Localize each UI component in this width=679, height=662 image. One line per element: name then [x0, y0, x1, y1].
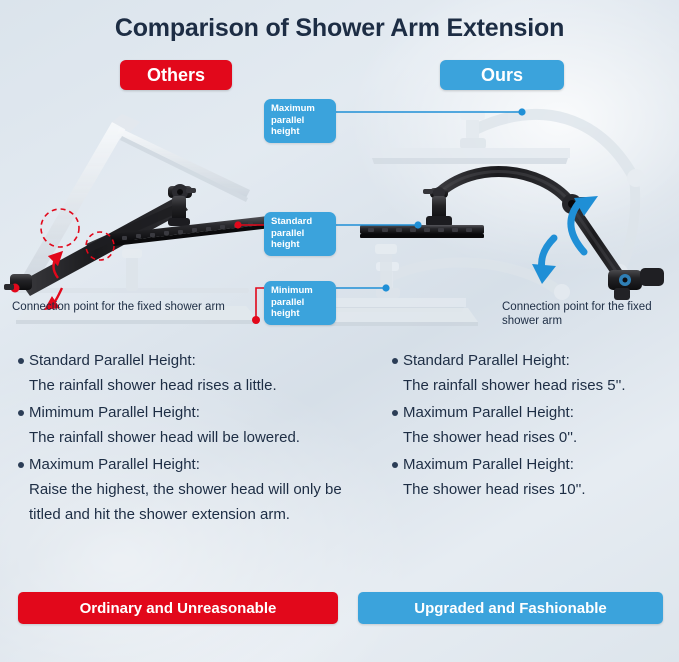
- others-illustration: [4, 114, 271, 324]
- bullet-column-others: Standard Parallel Height: The rainfall s…: [0, 348, 374, 578]
- bullet-heading-row: Standard Parallel Height:: [18, 348, 374, 373]
- bullet-dot-icon: [18, 410, 24, 416]
- bullet-heading: Maximum Parallel Height:: [403, 400, 574, 425]
- bullet-item: Mimimum Parallel Height: The rainfall sh…: [18, 400, 374, 450]
- bullet-dot-icon: [392, 358, 398, 364]
- bullet-column-ours: Standard Parallel Height: The rainfall s…: [374, 348, 679, 578]
- bullet-item: Standard Parallel Height: The rainfall s…: [392, 348, 679, 398]
- banner-ordinary-unreasonable: Ordinary and Unreasonable: [18, 592, 338, 624]
- bullet-heading-row: Maximum Parallel Height:: [392, 452, 679, 477]
- bullet-item: Maximum Parallel Height: The shower head…: [392, 400, 679, 450]
- callout-maximum-parallel-height: Maximum parallel height: [264, 99, 336, 143]
- bullet-heading: Maximum Parallel Height:: [403, 452, 574, 477]
- bullet-heading: Standard Parallel Height:: [29, 348, 196, 373]
- badge-ours: Ours: [440, 60, 564, 90]
- callout-standard-parallel-height: Standard parallel height: [264, 212, 336, 256]
- badge-others: Others: [120, 60, 232, 90]
- bullet-heading: Maximum Parallel Height:: [29, 452, 200, 477]
- bullet-dot-icon: [18, 358, 24, 364]
- callout-minimum-parallel-height: Minimum parallel height: [264, 281, 336, 325]
- bullet-dot-icon: [392, 462, 398, 468]
- bullet-body: The rainfall shower head rises a little.: [18, 373, 374, 398]
- ours-illustration: [290, 110, 664, 326]
- bullet-body: The rainfall shower head will be lowered…: [18, 425, 374, 450]
- bullet-body: The shower head rises 10''.: [392, 477, 679, 502]
- infographic-page: Comparison of Shower Arm Extension Other…: [0, 0, 679, 662]
- bullet-heading: Mimimum Parallel Height:: [29, 400, 200, 425]
- bullet-heading: Standard Parallel Height:: [403, 348, 570, 373]
- bullet-body: The shower head rises 0''.: [392, 425, 679, 450]
- bullet-heading-row: Standard Parallel Height:: [392, 348, 679, 373]
- connection-caption-left: Connection point for the fixed shower ar…: [12, 300, 225, 314]
- bullet-item: Standard Parallel Height: The rainfall s…: [18, 348, 374, 398]
- bullet-item: Maximum Parallel Height: The shower head…: [392, 452, 679, 502]
- banner-upgraded-fashionable: Upgraded and Fashionable: [358, 592, 663, 624]
- bullet-dot-icon: [18, 462, 24, 468]
- bullet-heading-row: Maximum Parallel Height:: [18, 452, 374, 477]
- page-title: Comparison of Shower Arm Extension: [0, 14, 679, 43]
- bullet-item: Maximum Parallel Height: Raise the highe…: [18, 452, 374, 527]
- bullet-body: Raise the highest, the shower head will …: [18, 477, 374, 527]
- bullet-heading-row: Mimimum Parallel Height:: [18, 400, 374, 425]
- bullet-columns: Standard Parallel Height: The rainfall s…: [0, 348, 679, 578]
- bullet-heading-row: Maximum Parallel Height:: [392, 400, 679, 425]
- connection-caption-right: Connection point for the fixed shower ar…: [502, 300, 679, 328]
- bullet-body: The rainfall shower head rises 5''.: [392, 373, 679, 398]
- ours-black-arm: [360, 171, 664, 300]
- bullet-dot-icon: [392, 410, 398, 416]
